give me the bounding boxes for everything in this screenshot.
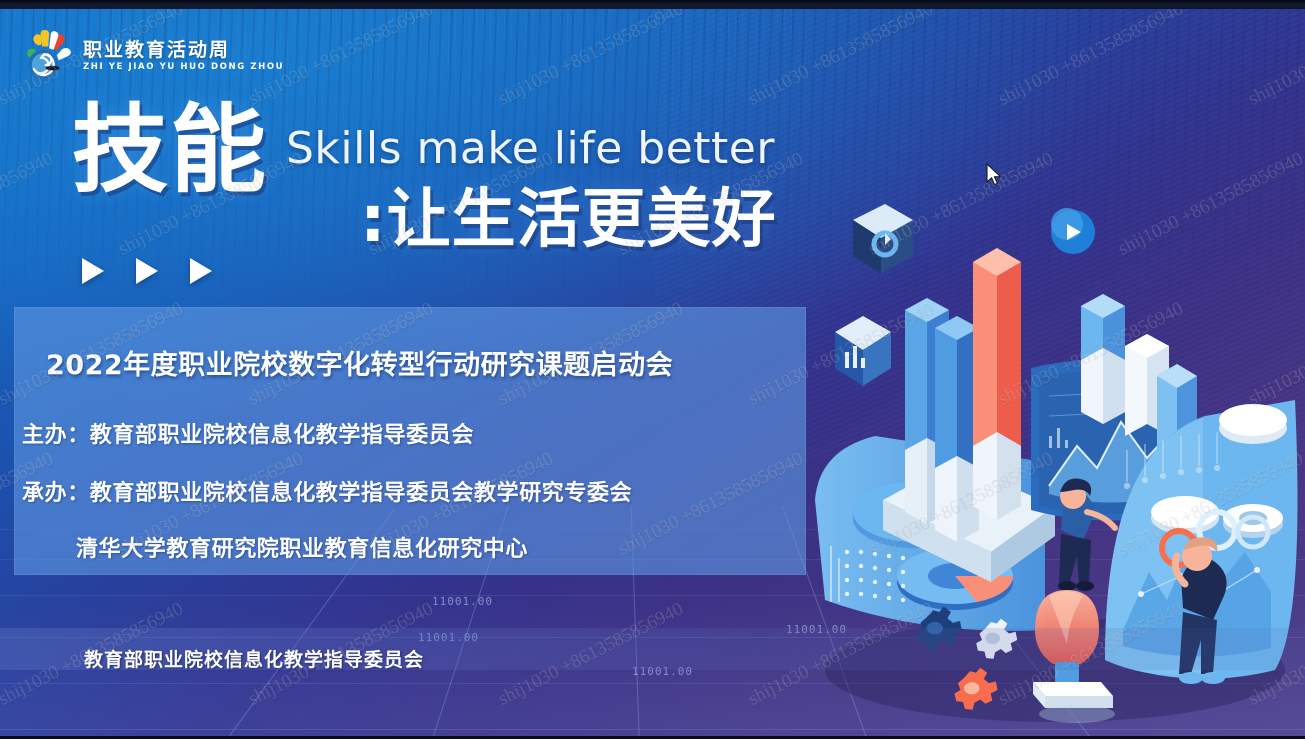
presentation-slide: 11001.00 11001.00 11001.00 11001.00 <box>0 0 1305 739</box>
mouse-pointer-icon <box>986 163 1003 192</box>
slogan-chinese-main: 技能 <box>72 104 268 196</box>
slogan-headline: 技能 Skills make life better :让生活更美好 <box>72 104 777 260</box>
co-organizer-line: 承办：教育部职业院校信息化教学指导委员会教学研究专委会 <box>22 475 632 507</box>
handprint-logo-icon <box>24 30 76 82</box>
organizer-line: 主办：教育部职业院校信息化教学指导委员会 <box>22 417 474 449</box>
play-triangle-icon <box>190 258 212 284</box>
slogan-chinese-sub: :让生活更美好 <box>360 168 777 260</box>
conference-title: 2022年度职业院校数字化转型行动研究课题启动会 <box>46 343 673 382</box>
decorative-arrows <box>82 258 212 284</box>
window-top-bezel <box>0 0 1305 9</box>
footer-organization: 教育部职业院校信息化教学指导委员会 <box>84 645 424 672</box>
slogan-english: Skills make life better <box>286 123 775 174</box>
play-button-bubble <box>1051 208 1095 254</box>
floor-binary-label: 11001.00 <box>432 595 493 608</box>
card-icons <box>835 204 913 386</box>
event-logo[interactable]: 职业教育活动周 ZHI YE JIAO YU HUO DONG ZHOU <box>24 30 284 82</box>
logo-pinyin: ZHI YE JIAO YU HUO DONG ZHOU <box>83 63 284 72</box>
logo-chinese-name: 职业教育活动周 <box>83 41 284 60</box>
play-triangle-icon <box>82 258 104 284</box>
conference-info-panel: 2022年度职业院校数字化转型行动研究课题启动会 主办：教育部职业院校信息化教学… <box>14 307 806 575</box>
play-triangle-icon <box>136 258 158 284</box>
host-institute-line: 清华大学教育研究院职业教育信息化研究中心 <box>76 531 528 563</box>
bar-chart-towers <box>883 248 1055 582</box>
